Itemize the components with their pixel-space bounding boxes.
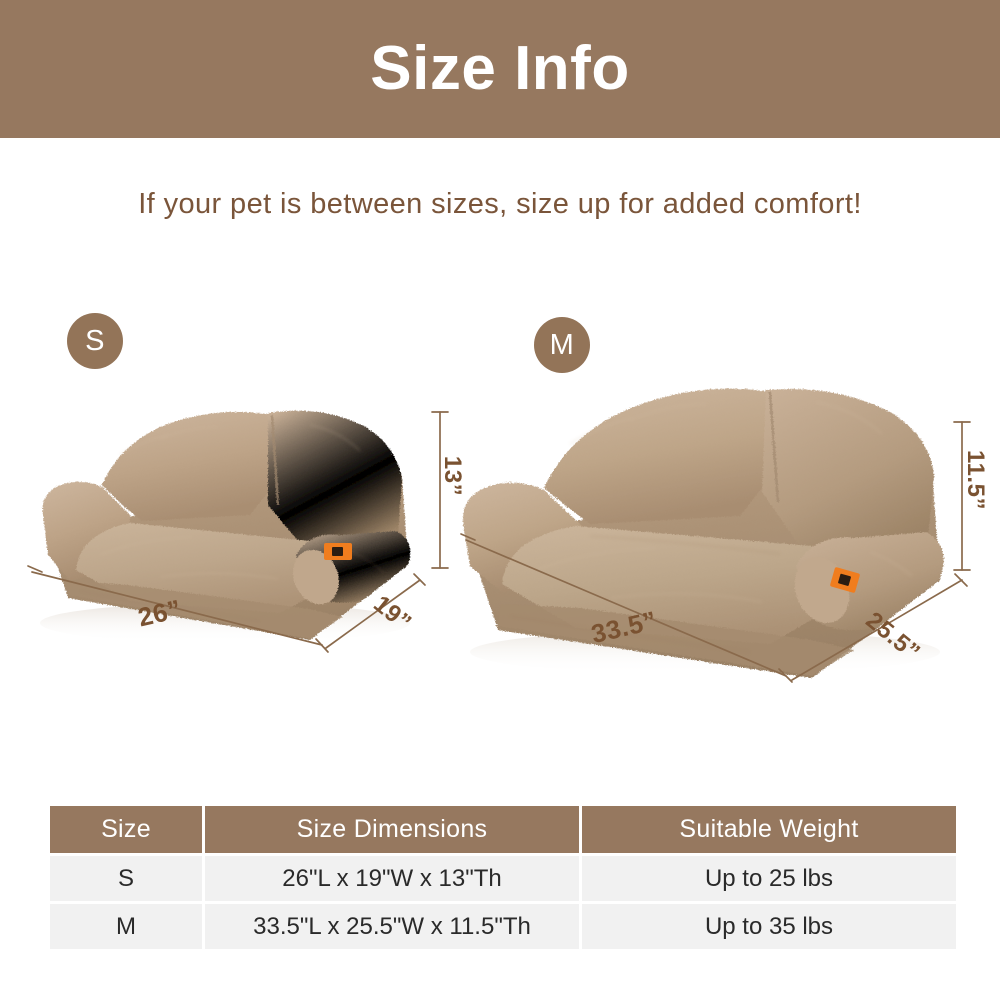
column-header-dimensions: Size Dimensions bbox=[205, 806, 579, 853]
page-title: Size Info bbox=[370, 38, 629, 100]
cell-dimensions: 26"L x 19"W x 13"Th bbox=[205, 856, 579, 901]
table-row: M 33.5"L x 25.5"W x 11.5"Th Up to 35 lbs bbox=[50, 904, 956, 949]
dimension-label-s-height: 13” bbox=[438, 456, 466, 496]
brand-tag-small bbox=[324, 543, 352, 560]
table-row: S 26"L x 19"W x 13"Th Up to 25 lbs bbox=[50, 856, 956, 901]
dimension-label-m-height: 11.5” bbox=[961, 450, 989, 510]
cell-dimensions: 33.5"L x 25.5"W x 11.5"Th bbox=[205, 904, 579, 949]
header-banner: Size Info bbox=[0, 0, 1000, 138]
cell-weight: Up to 25 lbs bbox=[582, 856, 956, 901]
table-header-row: Size Size Dimensions Suitable Weight bbox=[50, 806, 956, 853]
column-header-size: Size bbox=[50, 806, 202, 853]
cell-size: S bbox=[50, 856, 202, 901]
subtitle-text: If your pet is between sizes, size up fo… bbox=[0, 188, 1000, 221]
cell-size: M bbox=[50, 904, 202, 949]
column-header-weight: Suitable Weight bbox=[582, 806, 956, 853]
spec-table: Size Size Dimensions Suitable Weight S 2… bbox=[47, 803, 959, 952]
cell-weight: Up to 35 lbs bbox=[582, 904, 956, 949]
